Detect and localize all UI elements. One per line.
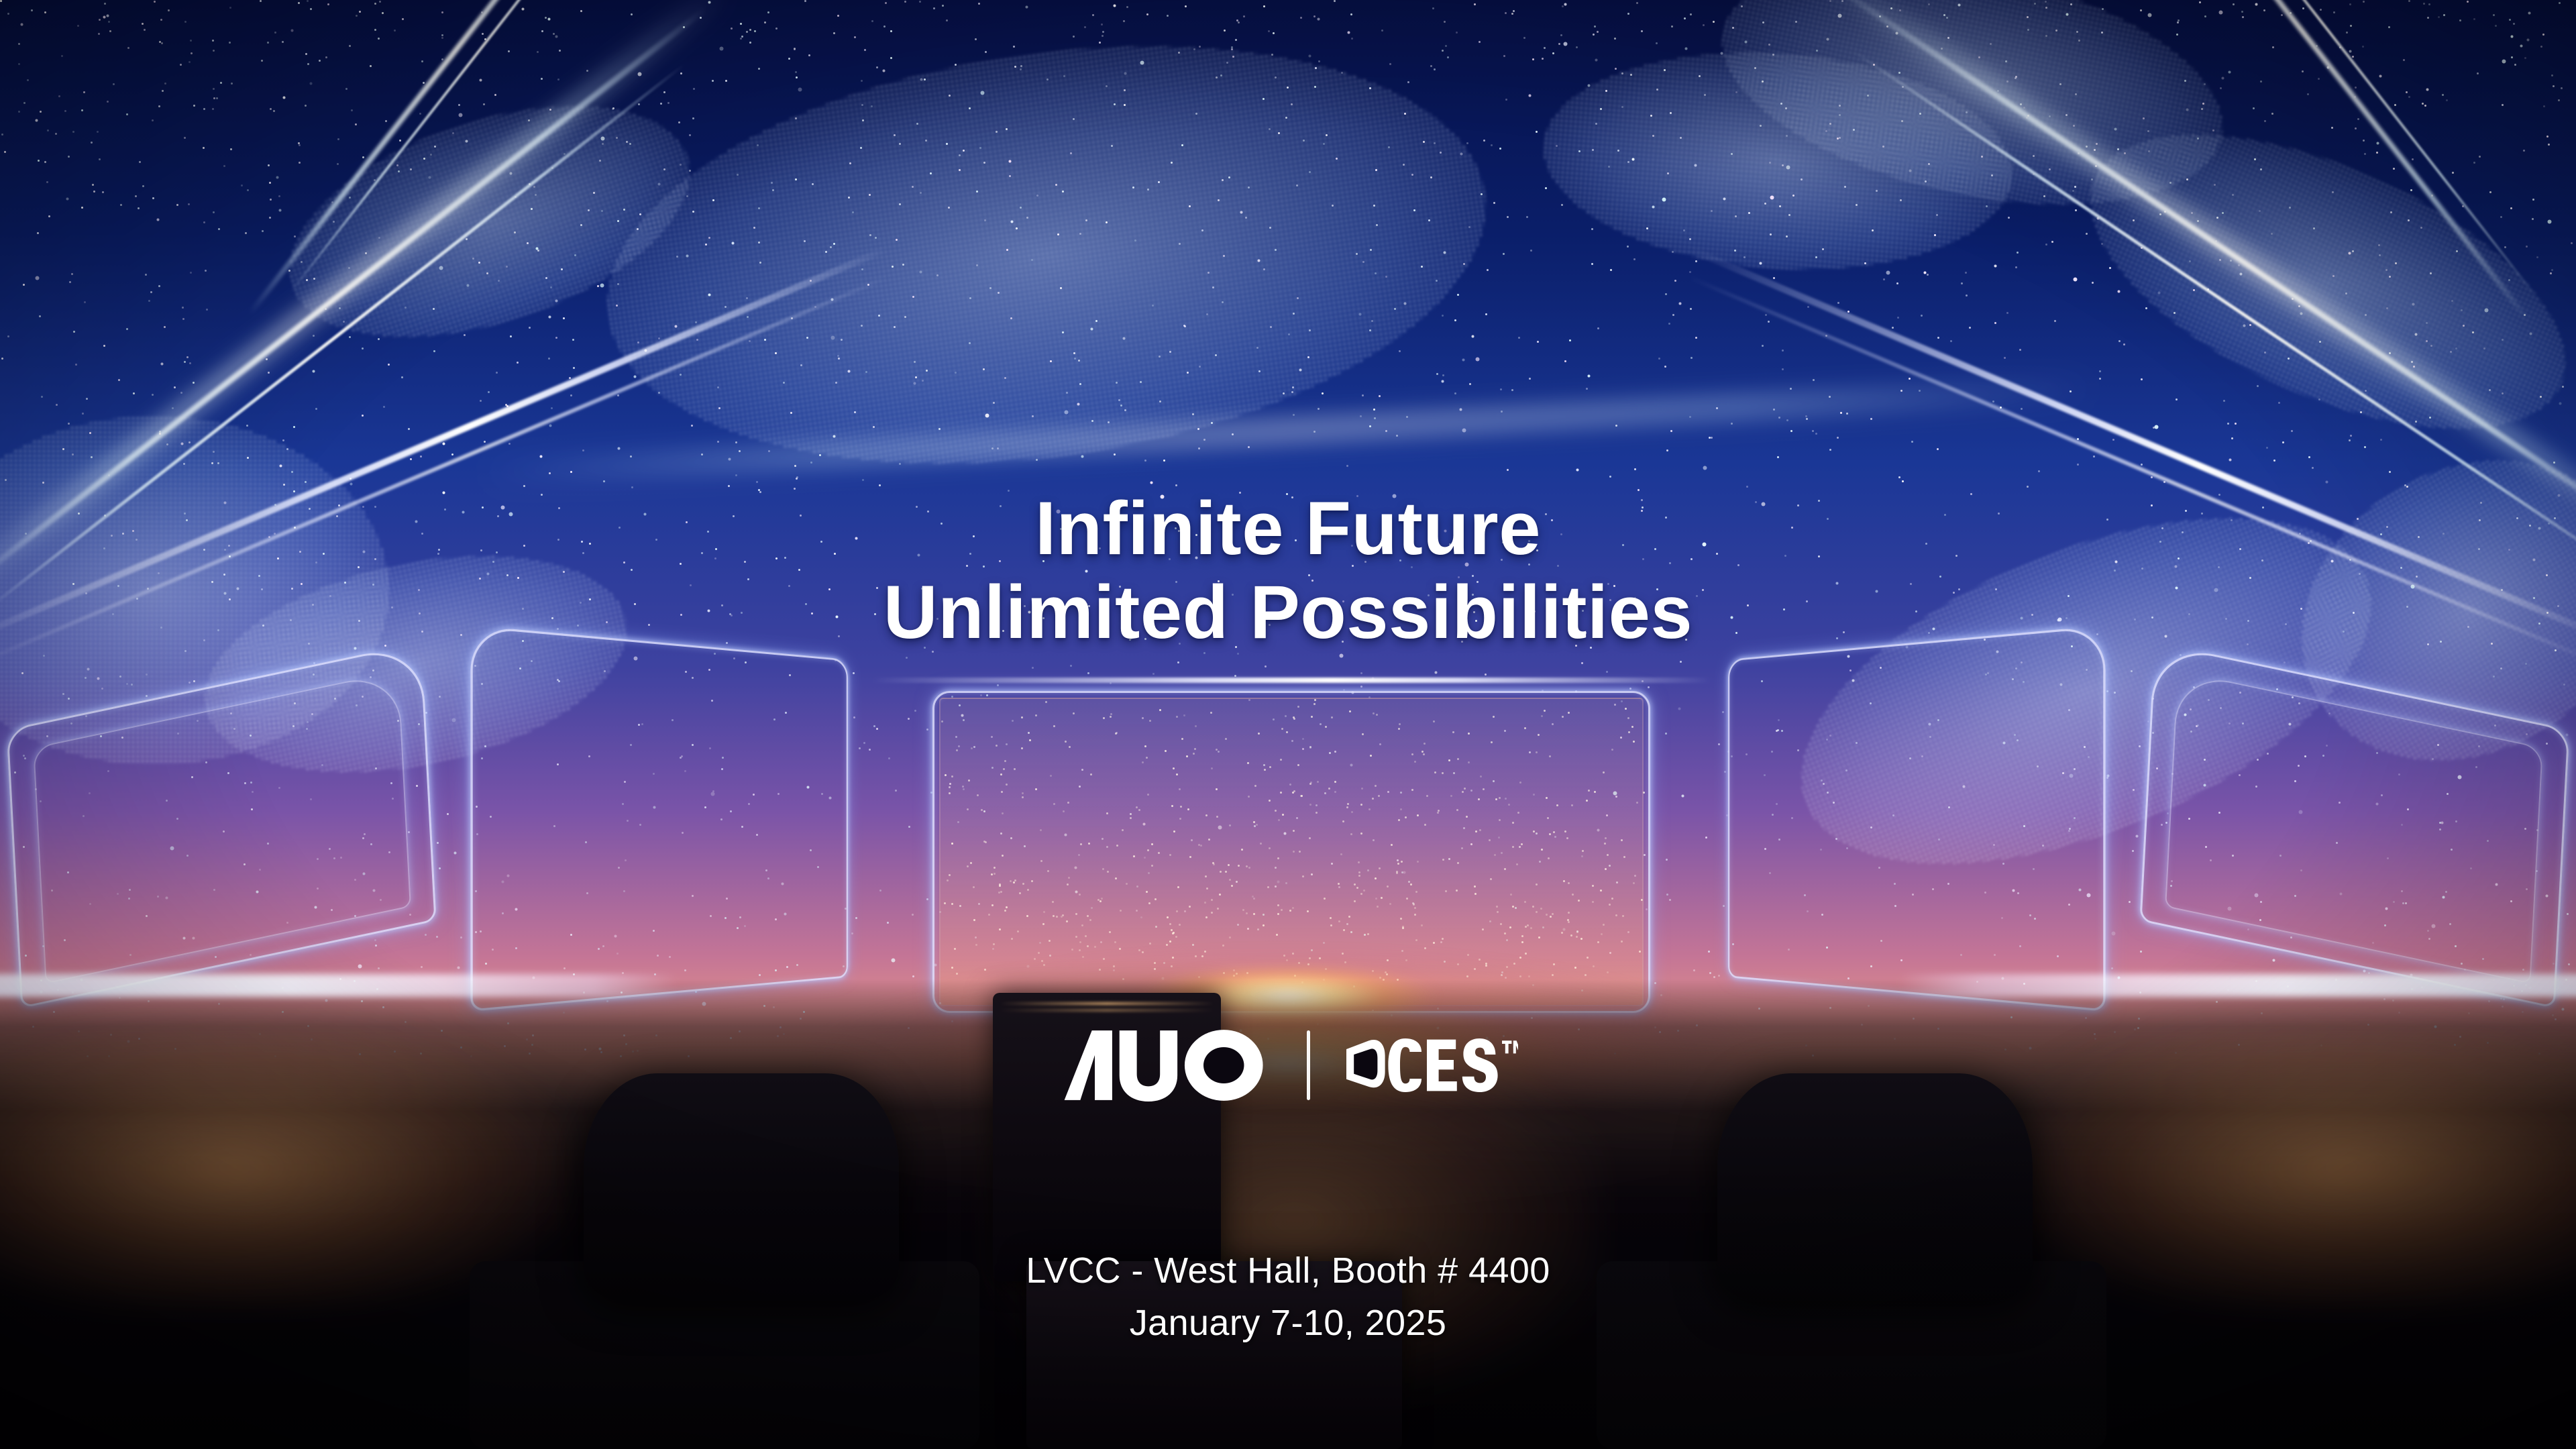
venue-info: LVCC - West Hall, Booth # 4400 January 7… bbox=[0, 1244, 2576, 1350]
venue-location: LVCC - West Hall, Booth # 4400 bbox=[0, 1244, 2576, 1297]
dash-light-bar-right bbox=[1898, 974, 2576, 997]
console-accent-line-1 bbox=[1000, 1002, 1214, 1005]
headline-line-2: Unlimited Possibilities bbox=[0, 570, 2576, 654]
ces-wordmark-logo bbox=[1341, 1038, 1518, 1092]
venue-dates: January 7-10, 2025 bbox=[0, 1297, 2576, 1349]
auo-wordmark-logo bbox=[1059, 1029, 1276, 1102]
headline: Infinite Future Unlimited Possibilities bbox=[0, 486, 2576, 655]
poster-canvas: Infinite Future Unlimited Possibilities bbox=[0, 0, 2576, 1449]
headline-line-1: Infinite Future bbox=[0, 486, 2576, 570]
roof-rail-center bbox=[872, 678, 1711, 683]
dash-light-bar-left bbox=[0, 974, 678, 997]
logo-lockup bbox=[0, 1029, 2576, 1102]
logo-divider bbox=[1307, 1030, 1310, 1100]
console-accent-line-2 bbox=[1000, 1009, 1214, 1012]
